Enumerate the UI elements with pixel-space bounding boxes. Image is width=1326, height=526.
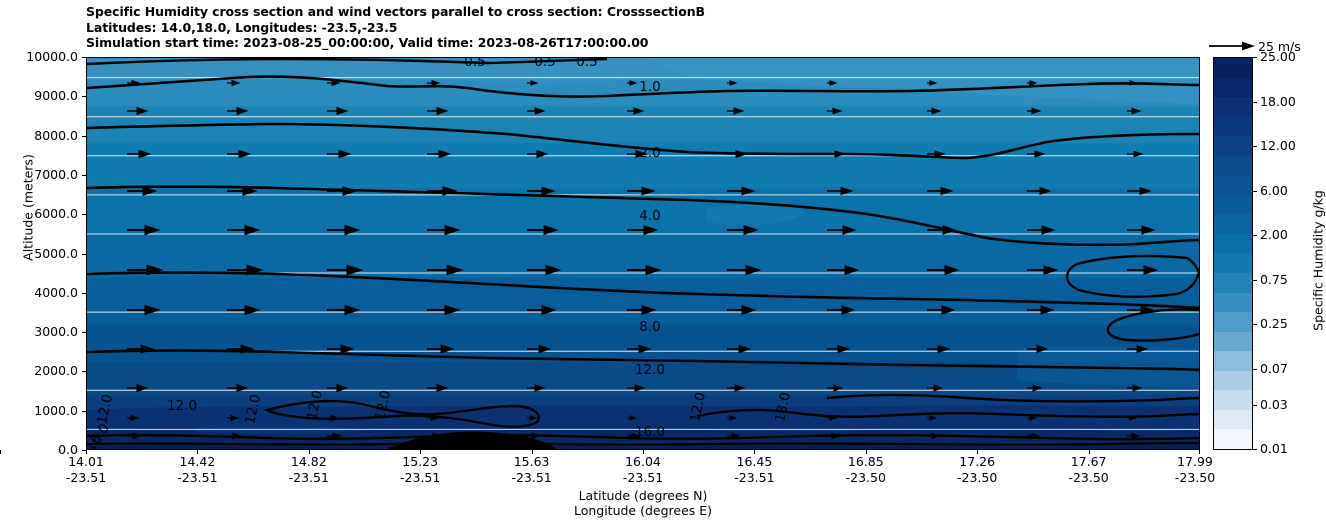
cb-band	[1214, 195, 1252, 215]
cb-band	[1214, 78, 1252, 98]
xtick-label-lat: 16.45	[736, 455, 772, 469]
contour-label-0p5-c: 0.5	[576, 58, 597, 70]
xtick-label-lat: 17.67	[1071, 455, 1107, 469]
cb-band	[1214, 156, 1252, 176]
cb-band	[1214, 58, 1252, 78]
cb-band	[1214, 97, 1252, 117]
xtick-label-lat: 16.85	[848, 455, 884, 469]
chart-title: Specific Humidity cross section and wind…	[86, 4, 1206, 51]
title-line-2: Latitudes: 14.0,18.0, Longitudes: -23.5,…	[86, 20, 1206, 36]
ytick-label: 5000.0	[34, 248, 78, 261]
ytick-label: 7000.0	[34, 169, 78, 182]
cb-band	[1214, 312, 1252, 332]
xtick-label-lon: -23.51	[289, 471, 329, 485]
ytick-mark	[82, 371, 86, 372]
xtick-label-lon: -23.50	[1068, 471, 1108, 485]
contour-label-12p0-a: 12.0	[635, 362, 665, 378]
cbtick-mark	[1253, 102, 1257, 103]
ytick-mark	[82, 96, 86, 97]
xtick-label-lon: -23.50	[1175, 471, 1215, 485]
cbtick-mark	[1253, 449, 1257, 450]
x-axis-label-longitude: Longitude (degrees E)	[0, 503, 1286, 518]
cbtick-label: 12.00	[1260, 140, 1296, 153]
xtick-label-lat: 14.01	[68, 455, 104, 469]
ytick-label: 3000.0	[34, 326, 78, 339]
cbtick-label: 2.00	[1260, 229, 1288, 242]
ytick-label: 2000.0	[34, 365, 78, 378]
cb-band	[1214, 234, 1252, 254]
cb-band	[1214, 410, 1252, 430]
cbtick-label: 0.25	[1260, 318, 1288, 331]
colorbar-axis-label: Specific Humidity g/kg	[1311, 181, 1326, 341]
cbtick-mark	[1253, 369, 1257, 370]
xtick-label-lat: 14.82	[291, 455, 327, 469]
ytick-label: 1000.0	[34, 405, 78, 418]
xtick-label-lon: -23.51	[511, 471, 551, 485]
cbtick-mark	[1253, 146, 1257, 147]
xtick-label-lat: 15.63	[514, 455, 550, 469]
ytick-label: 8000.0	[34, 130, 78, 143]
xtick-label-lat: 17.26	[959, 455, 995, 469]
cbtick-label: 18.00	[1260, 96, 1296, 109]
xtick-label-lat: 16.04	[625, 455, 661, 469]
cb-band	[1214, 429, 1252, 449]
cbtick-label: 0.01	[1260, 443, 1288, 456]
ytick-mark	[82, 332, 86, 333]
ytick-mark	[82, 254, 86, 255]
ytick-label: 10000.0	[26, 51, 78, 64]
contour-label-0p5-a: 0.5	[464, 58, 485, 70]
cbtick-label: 6.00	[1260, 185, 1288, 198]
xtick-label-lon: -23.51	[623, 471, 663, 485]
arrow-right-icon	[1208, 39, 1256, 53]
xtick-label-lat: 14.42	[179, 455, 215, 469]
ytick-mark	[82, 411, 86, 412]
humidity-field: 0.5 0.5 0.5 1.0 2.0 4.0 8.0 12.0 16.0 12…	[87, 58, 1199, 449]
ytick-label: 4000.0	[34, 287, 78, 300]
cb-band	[1214, 175, 1252, 195]
cb-band	[1214, 293, 1252, 313]
cbtick-mark	[1253, 280, 1257, 281]
xtick-label-lon: -23.50	[957, 471, 997, 485]
xtick-label-lon: -23.51	[66, 471, 106, 485]
cbtick-mark	[1253, 191, 1257, 192]
ytick-label: 6000.0	[34, 208, 78, 221]
contour-label-1p0: 1.0	[639, 79, 660, 95]
colorbar	[1213, 57, 1253, 450]
figure-canvas: Specific Humidity cross section and wind…	[0, 0, 1326, 526]
xtick-label-lon: -23.51	[400, 471, 440, 485]
y-axis-label: Altitude (meters)	[21, 128, 36, 288]
cb-band	[1214, 390, 1252, 410]
cbtick-label: 0.75	[1260, 274, 1288, 287]
x-axis-label-latitude: Latitude (degrees N)	[0, 488, 1286, 503]
title-line-1: Specific Humidity cross section and wind…	[86, 4, 1206, 20]
xtick-label-lon: -23.51	[177, 471, 217, 485]
contour-label-4p0: 4.0	[639, 208, 660, 224]
ytick-mark	[82, 57, 86, 58]
cbtick-mark	[1253, 235, 1257, 236]
title-line-3: Simulation start time: 2023-08-25_00:00:…	[86, 35, 1206, 51]
xtick-label-lat: 15.23	[402, 455, 438, 469]
cbtick-mark	[1253, 57, 1257, 58]
ytick-mark	[82, 175, 86, 176]
xtick-label-lon: -23.51	[734, 471, 774, 485]
cb-band	[1214, 351, 1252, 371]
ytick-label: 9000.0	[34, 90, 78, 103]
cbtick-mark	[1253, 405, 1257, 406]
contour-label-16p0-a: 16.0	[635, 424, 665, 440]
cb-band	[1214, 117, 1252, 137]
cb-band	[1214, 273, 1252, 293]
cbtick-label: 0.03	[1260, 399, 1288, 412]
contour-label-8p0: 8.0	[639, 319, 660, 335]
xtick-label-lon: -23.50	[846, 471, 886, 485]
cb-band	[1214, 253, 1252, 273]
cb-band	[1214, 371, 1252, 391]
contour-label-12p0-b: 12.0	[167, 398, 197, 414]
cb-band	[1214, 214, 1252, 234]
xtick-label-lat: 17.99	[1177, 455, 1213, 469]
cbtick-mark	[1253, 324, 1257, 325]
ytick-mark	[82, 214, 86, 215]
cb-band	[1214, 136, 1252, 156]
cross-section-plot: 0.5 0.5 0.5 1.0 2.0 4.0 8.0 12.0 16.0 12…	[86, 57, 1200, 450]
ytick-mark	[82, 136, 86, 137]
cbtick-label: 0.07	[1260, 363, 1288, 376]
cb-band	[1214, 332, 1252, 352]
ytick-mark	[82, 293, 86, 294]
contour-label-0p5-b: 0.5	[534, 58, 555, 70]
cbtick-label: 25.00	[1260, 51, 1296, 64]
